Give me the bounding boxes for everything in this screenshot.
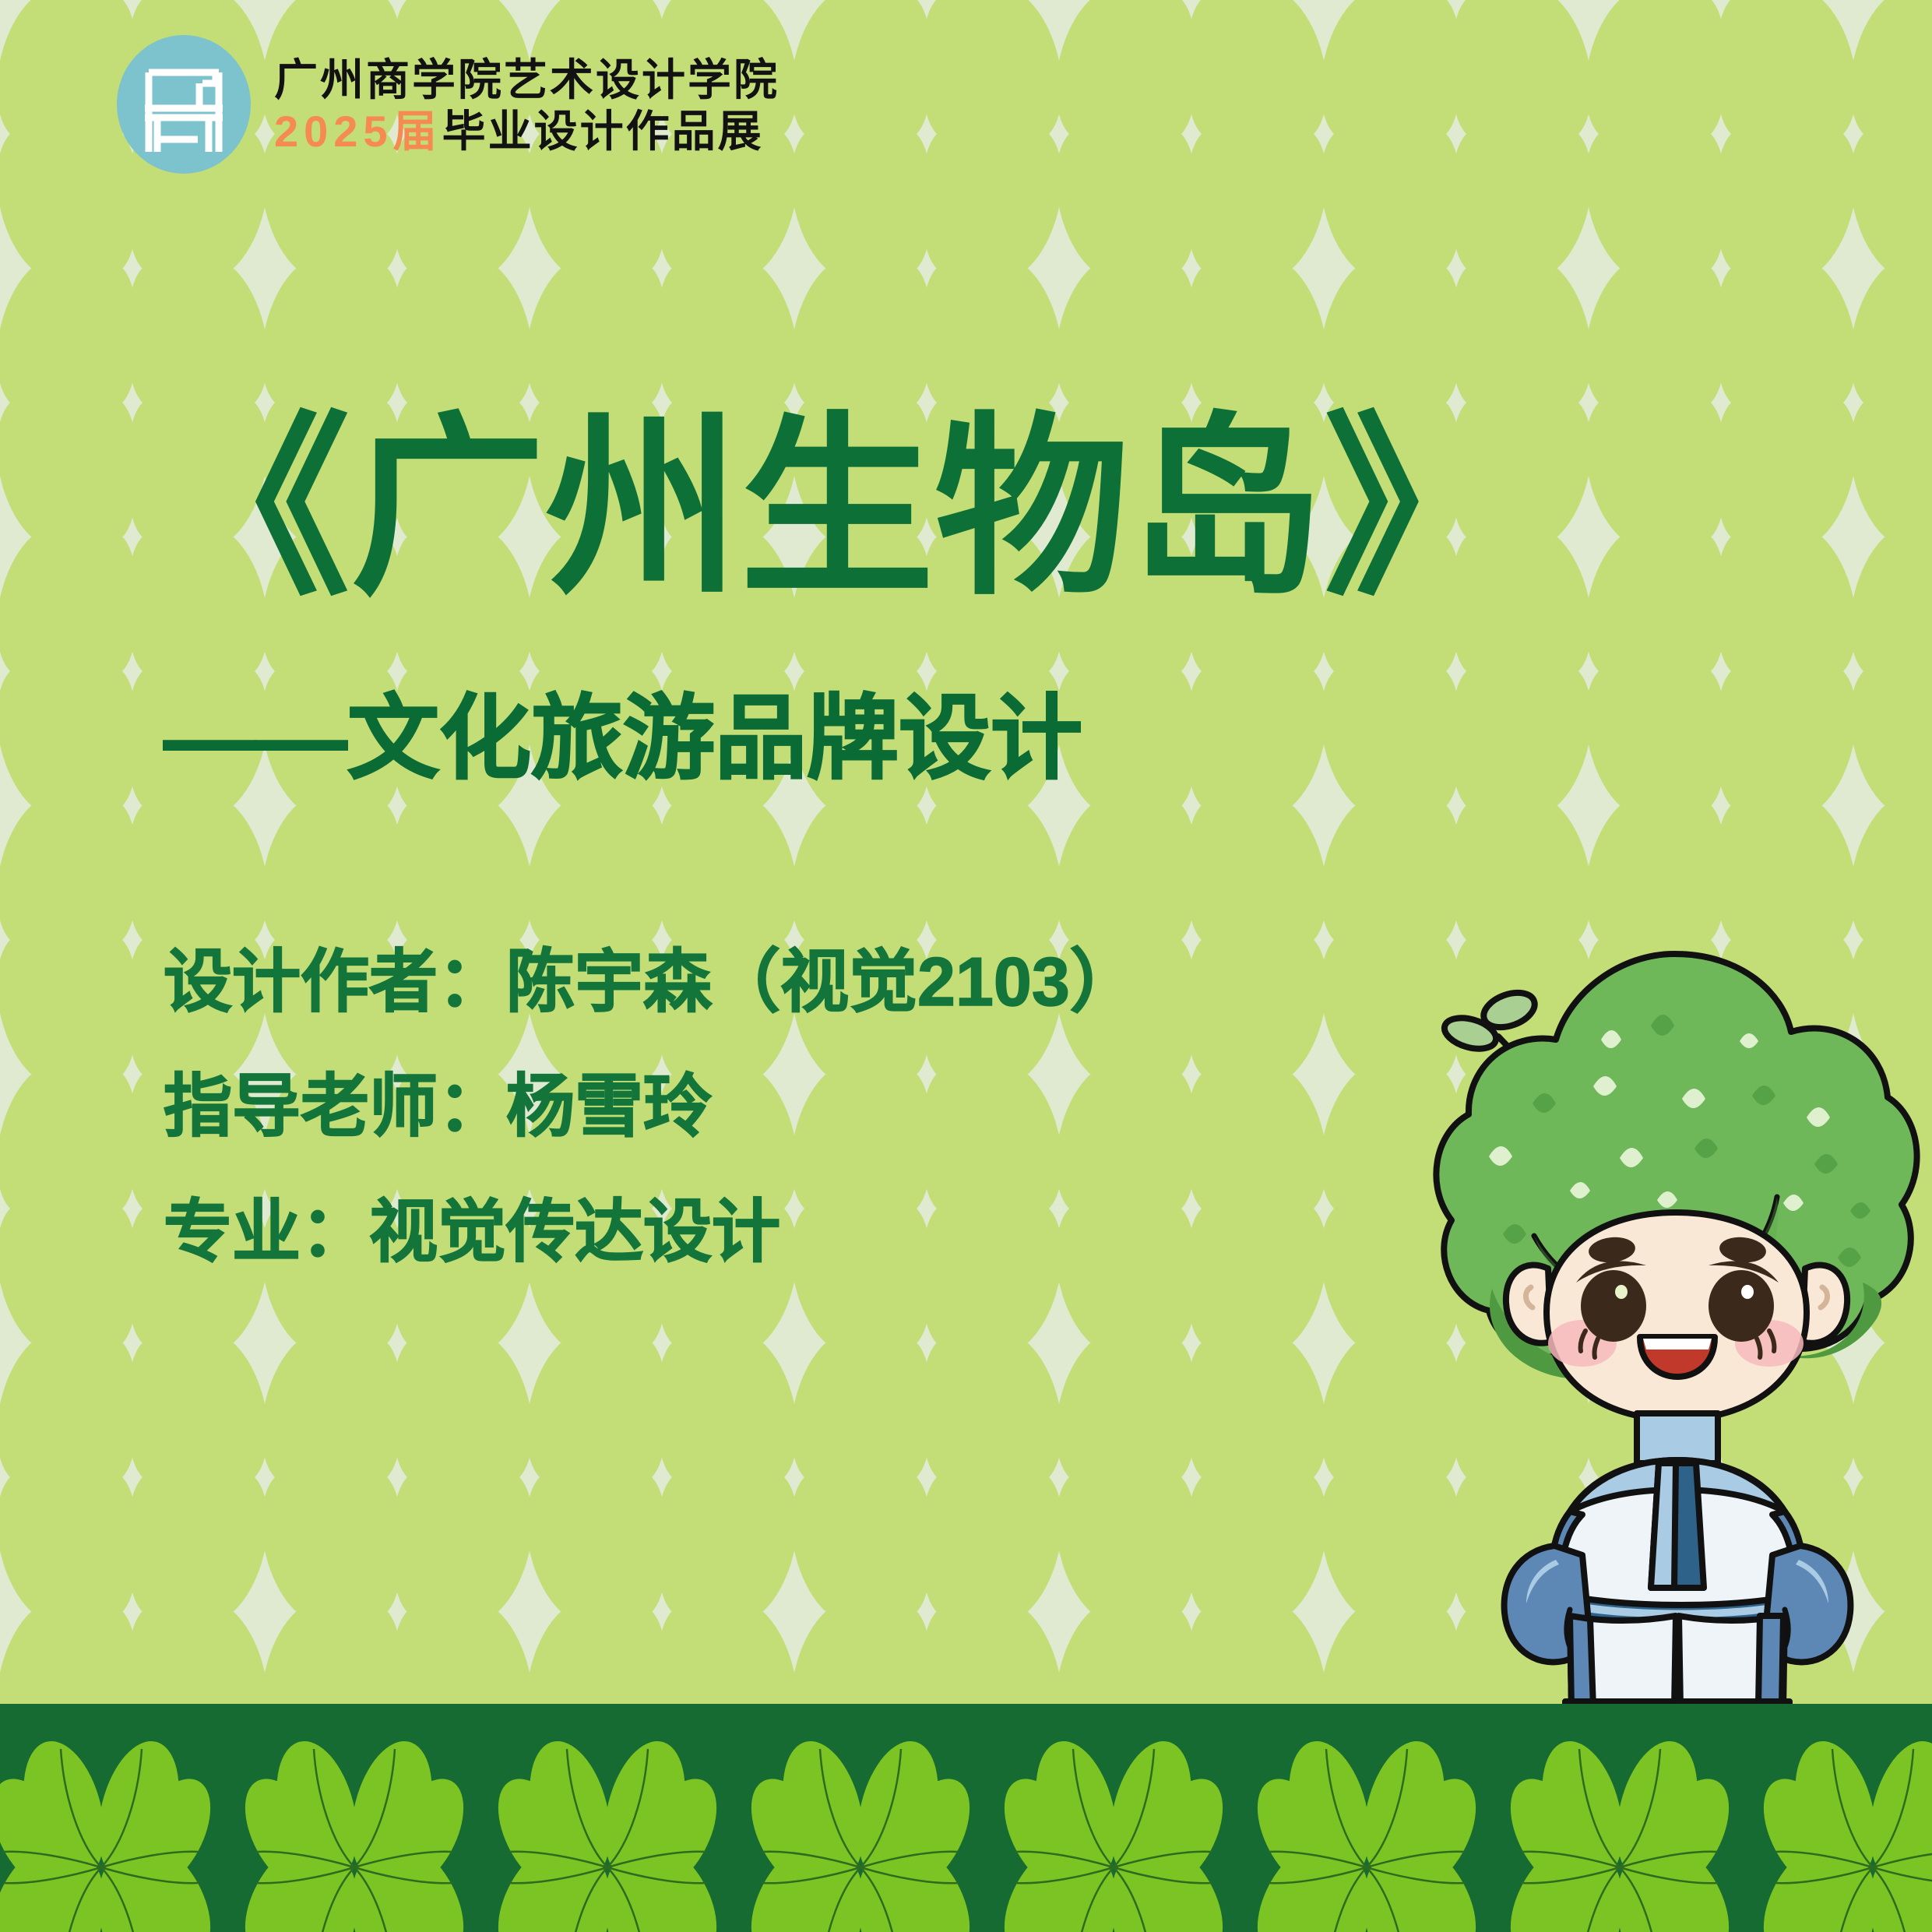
mascot-illustration xyxy=(1417,923,1931,1717)
title-block: 《广州生物岛》 ——文化旅游品牌设计 xyxy=(0,405,1932,790)
credit-major: 专业：视觉传达设计 xyxy=(164,1196,1138,1268)
credit-author: 设计作者：陈宇森（视觉2103） xyxy=(164,946,1138,1018)
header-branding: 广州商学院艺术设计学院 2025届毕业设计作品展 xyxy=(117,35,779,174)
school-logo-icon xyxy=(117,35,251,174)
credit-advisor: 指导老师：杨雪玲 xyxy=(164,1071,1138,1142)
school-name-line: 广州商学院艺术设计学院 xyxy=(274,57,779,104)
credits-block: 设计作者：陈宇森（视觉2103） 指导老师：杨雪玲 专业：视觉传达设计 xyxy=(164,946,1138,1268)
exhibition-line: 2025届毕业设计作品展 xyxy=(274,108,779,155)
page-title: 《广州生物岛》 xyxy=(0,405,1932,611)
year-badge: 2025届 xyxy=(274,107,442,156)
page-subtitle: ——文化旅游品牌设计 xyxy=(0,611,1932,790)
bottom-clover-band xyxy=(0,1704,1932,1932)
poster-canvas: 广州商学院艺术设计学院 2025届毕业设计作品展 《广州生物岛》 ——文化旅游品… xyxy=(0,0,1932,1932)
header-text-block: 广州商学院艺术设计学院 2025届毕业设计作品展 xyxy=(274,54,779,156)
exhibition-label: 毕业设计作品展 xyxy=(442,107,764,156)
